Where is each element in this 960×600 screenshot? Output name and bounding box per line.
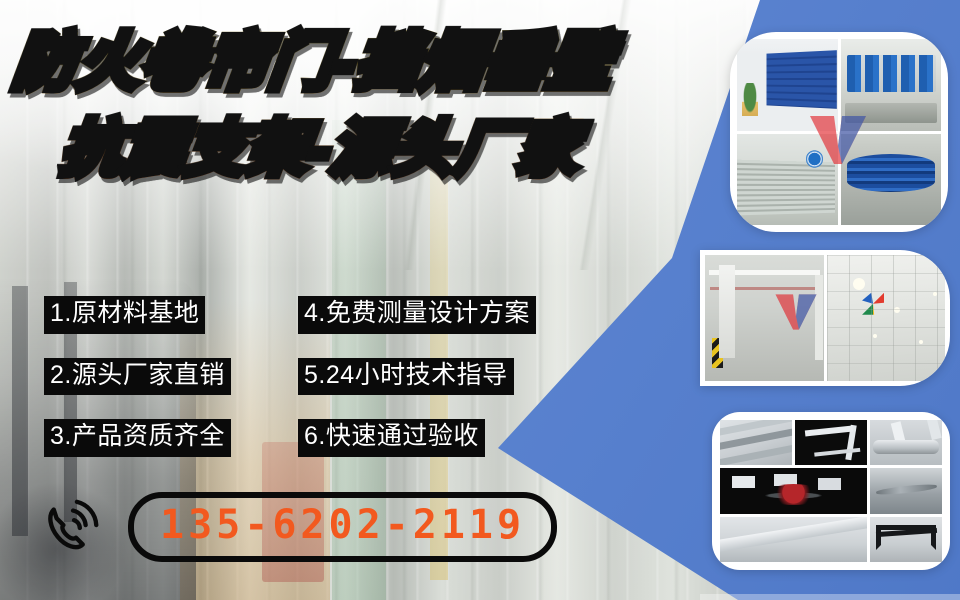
phone-ringing-icon bbox=[44, 498, 106, 556]
bottom-white-strip bbox=[700, 594, 960, 600]
feature-item: 2.源头厂家直销 bbox=[44, 358, 231, 396]
photo-ceiling-support-bracket bbox=[795, 420, 867, 465]
contact-row: 135-6202-2119 bbox=[44, 492, 557, 562]
feature-item: 3.产品资质齐全 bbox=[44, 419, 231, 457]
feature-item: 5.24小时技术指导 bbox=[298, 358, 514, 396]
headline-block: 防火卷帘门-挡烟垂壁 抗震支架-源头厂家 bbox=[14, 30, 704, 180]
feature-item: 6.快速通过验收 bbox=[298, 419, 485, 457]
headline-line-2-text: 抗震支架-源头厂家 bbox=[58, 117, 584, 180]
photo-steel-frame-structure bbox=[870, 517, 942, 562]
headline-line-1: 防火卷帘门-挡烟垂壁 bbox=[10, 30, 708, 95]
headline-line-2: 抗震支架-源头厂家 bbox=[10, 117, 708, 180]
collage-seismic-bracing-gallery bbox=[712, 412, 950, 570]
phone-number-pill[interactable]: 135-6202-2119 bbox=[128, 492, 557, 562]
photo-large-ceiling-fan bbox=[870, 468, 942, 513]
feature-item: 1.原材料基地 bbox=[44, 296, 205, 334]
photo-ventilation-duct-support bbox=[720, 517, 867, 562]
photo-pipe-hanger-bracing bbox=[720, 420, 792, 465]
promotional-banner: STILL 防火卷帘门-挡烟垂壁 抗震支架-源头厂家 1.原材料基地 4.免费测… bbox=[0, 0, 960, 600]
photo-red-exhaust-fan bbox=[720, 468, 867, 513]
v-watermark-icon bbox=[774, 291, 818, 333]
photo-pipe-clamp-assembly bbox=[870, 420, 942, 465]
collage-installation-sites bbox=[700, 250, 950, 386]
headline-line-1-text: 防火卷帘门-挡烟垂壁 bbox=[10, 30, 617, 95]
feature-list: 1.原材料基地 4.免费测量设计方案 2.源头厂家直销 5.24小时技术指导 3… bbox=[44, 296, 536, 457]
garage-ceiling-beam bbox=[709, 270, 820, 275]
phone-number: 135-6202-2119 bbox=[160, 500, 525, 550]
photo-mall-ceiling-lighting bbox=[827, 255, 946, 381]
pinwheel-decor-icon bbox=[862, 293, 884, 315]
feature-item: 4.免费测量设计方案 bbox=[298, 296, 536, 334]
